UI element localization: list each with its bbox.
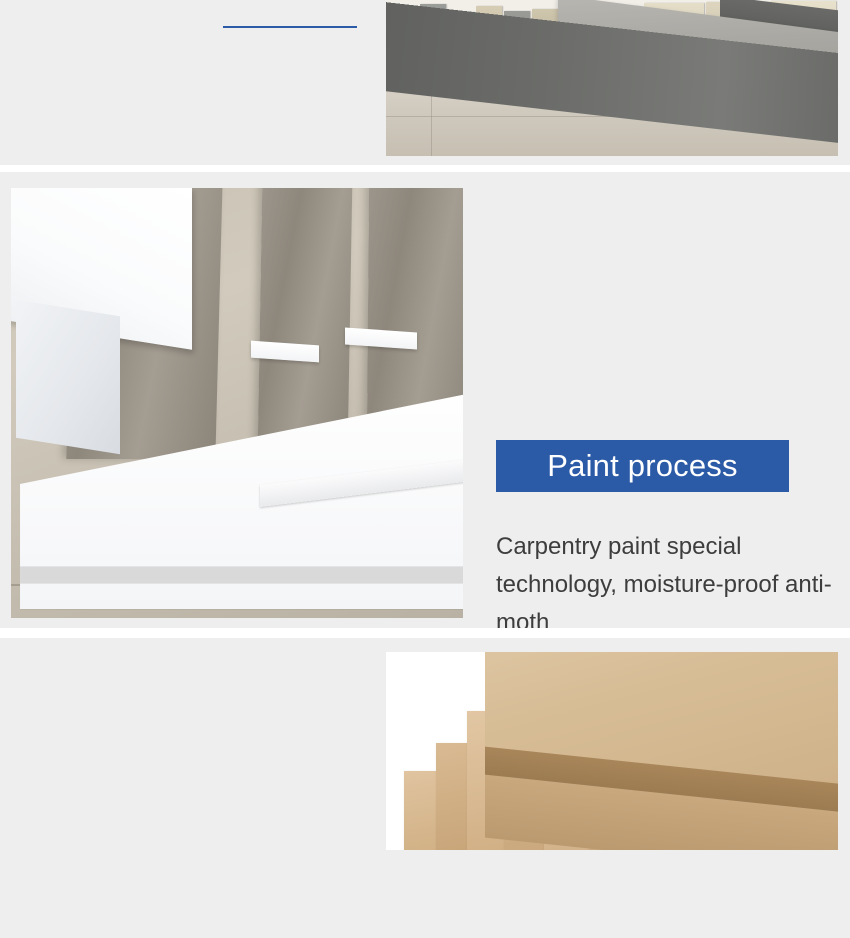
photo-white-base-edge — [20, 566, 463, 583]
paint-process-boards-photo — [11, 188, 463, 618]
divider-rule-top — [223, 26, 357, 28]
density-board-section: Density board load-bearing more — [0, 638, 850, 938]
photo-white-inner-panel — [16, 300, 120, 454]
tile-display-section — [0, 0, 850, 165]
photo-grey-panel — [257, 188, 352, 455]
paint-process-section: Paint process Carpentry paint special te… — [0, 172, 850, 628]
paint-process-badge: Paint process — [496, 440, 789, 492]
tile-sample-display-stand-photo — [386, 0, 838, 156]
mdf-density-board-stack-photo — [386, 652, 838, 850]
product-feature-page: Paint process Carpentry paint special te… — [0, 0, 850, 850]
paint-process-badge-label: Paint process — [547, 448, 737, 484]
paint-process-body-text: Carpentry paint special technology, mois… — [496, 528, 836, 628]
